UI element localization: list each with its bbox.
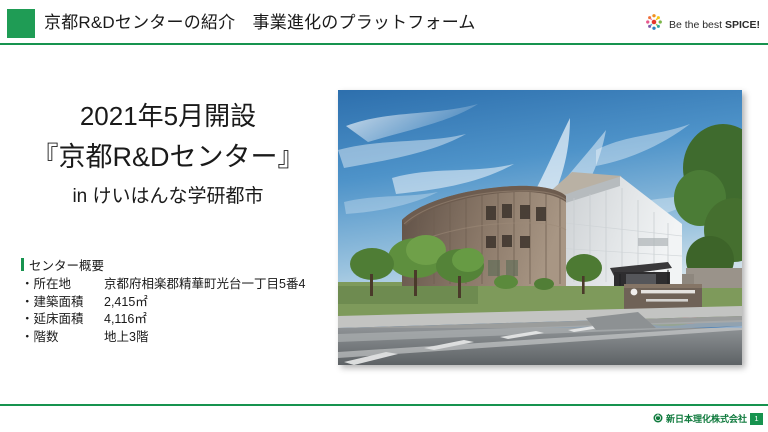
brand-tagline-emphasis: SPICE!: [725, 19, 760, 31]
spec-label: ・所在地: [21, 276, 104, 294]
facility-photo: [338, 90, 742, 365]
main-title-block: 2021年5月開設 『京都R&Dセンター』 in けいはんな学研都市: [0, 96, 336, 214]
spec-value: 2,415㎡: [104, 294, 341, 312]
page-number: 1: [750, 413, 763, 425]
spec-label: ・延床面積: [21, 311, 104, 329]
spec-row: ・建築面積 2,415㎡: [21, 294, 341, 312]
brand-tagline: Be the best SPICE!: [669, 19, 760, 31]
spec-row: ・所在地 京都府相楽郡精華町光台一丁目5番4: [21, 276, 341, 294]
overview-heading-bar-icon: [21, 258, 24, 271]
header-divider: [0, 43, 768, 45]
title-opening-date: 2021年5月開設: [0, 96, 336, 136]
spec-label: ・階数: [21, 329, 104, 347]
spec-row: ・階数 地上3階: [21, 329, 341, 347]
spec-label: ・建築面積: [21, 294, 104, 312]
brand-lockup: Be the best SPICE!: [644, 12, 760, 37]
footer-company-name: 新日本理化株式会社: [666, 412, 747, 425]
footer-lockup: 新日本理化株式会社 1: [653, 412, 763, 425]
footer-divider: [0, 404, 768, 406]
title-location: in けいはんな学研都市: [0, 180, 336, 214]
spec-value: 地上3階: [104, 329, 341, 347]
footer-company: 新日本理化株式会社: [653, 412, 747, 425]
spec-value: 京都府相楽郡精華町光台一丁目5番4: [104, 276, 341, 294]
slide-header: 京都R&Dセンターの紹介 事業進化のプラットフォーム Be the best S…: [0, 0, 768, 45]
brand-tagline-prefix: Be the best: [669, 19, 725, 31]
overview-heading: センター概要: [21, 255, 341, 274]
center-overview-block: センター概要 ・所在地 京都府相楽郡精華町光台一丁目5番4 ・建築面積 2,41…: [21, 255, 341, 346]
spice-dots-logo-icon: [644, 12, 664, 37]
header-accent-square: [7, 9, 35, 38]
spec-row: ・延床面積 4,116㎡: [21, 311, 341, 329]
page-title: 京都R&Dセンターの紹介 事業進化のプラットフォーム: [44, 11, 476, 35]
title-facility-name: 『京都R&Dセンター』: [0, 136, 336, 178]
spec-value: 4,116㎡: [104, 311, 341, 329]
company-mark-icon: [653, 413, 663, 425]
overview-heading-label: センター概要: [29, 255, 104, 274]
